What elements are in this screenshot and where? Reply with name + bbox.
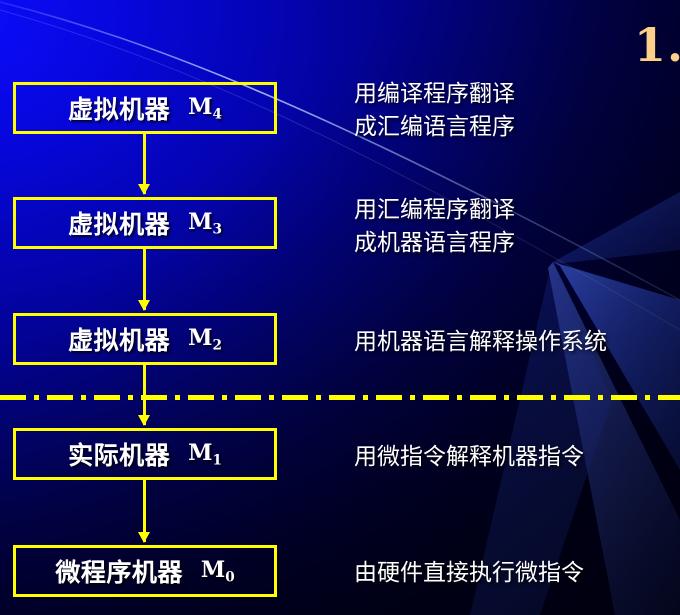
down-arrow-icon — [143, 480, 146, 542]
mark-letter: M — [188, 94, 212, 120]
description-line: 由硬件直接执行微指令 — [354, 557, 584, 590]
level-box-label: 虚拟机器 — [68, 205, 170, 241]
level-box-mark: M2 — [188, 325, 222, 353]
mark-letter: M — [188, 440, 212, 466]
mark-subscript: 4 — [212, 106, 221, 122]
level-description-m2: 用机器语言解释操作系统 — [354, 326, 607, 359]
slide-canvas: 1. 虚拟机器 M4 虚拟机器 M3 虚拟机器 M2 实际机器 M1 微程序机器… — [0, 0, 680, 615]
description-line: 用汇编程序翻译 — [354, 194, 515, 227]
level-box-label: 虚拟机器 — [68, 321, 170, 357]
level-box-mark: M3 — [188, 209, 222, 237]
level-box-label: 实际机器 — [68, 436, 170, 472]
mark-letter: M — [188, 209, 212, 235]
hardware-software-divider — [0, 395, 680, 400]
level-description-m4: 用编译程序翻译 成汇编语言程序 — [354, 78, 515, 144]
slide-number: 1. — [634, 18, 680, 72]
mark-subscript: 3 — [212, 221, 221, 237]
description-line: 用编译程序翻译 — [354, 78, 515, 111]
level-box-m0[interactable]: 微程序机器 M0 — [13, 545, 277, 597]
level-box-m3[interactable]: 虚拟机器 M3 — [13, 197, 277, 249]
level-box-mark: M1 — [188, 440, 222, 468]
mark-subscript: 1 — [212, 452, 221, 468]
level-box-mark: M0 — [201, 557, 235, 585]
mark-letter: M — [201, 557, 225, 583]
level-description-m3: 用汇编程序翻译 成机器语言程序 — [354, 194, 515, 260]
level-box-label: 微程序机器 — [55, 553, 183, 589]
level-box-label: 虚拟机器 — [68, 90, 170, 126]
description-line: 成机器语言程序 — [354, 227, 515, 260]
description-line: 成汇编语言程序 — [354, 111, 515, 144]
down-arrow-icon — [143, 134, 146, 194]
mark-subscript: 2 — [212, 337, 221, 353]
mark-letter: M — [188, 325, 212, 351]
mark-subscript: 0 — [225, 569, 234, 585]
down-arrow-icon — [143, 249, 146, 310]
description-line: 用机器语言解释操作系统 — [354, 326, 607, 359]
level-box-m2[interactable]: 虚拟机器 M2 — [13, 313, 277, 365]
level-box-m4[interactable]: 虚拟机器 M4 — [13, 82, 277, 134]
level-box-m1[interactable]: 实际机器 M1 — [13, 428, 277, 480]
level-box-mark: M4 — [188, 94, 222, 122]
level-description-m0: 由硬件直接执行微指令 — [354, 557, 584, 590]
level-description-m1: 用微指令解释机器指令 — [354, 441, 584, 474]
description-line: 用微指令解释机器指令 — [354, 441, 584, 474]
